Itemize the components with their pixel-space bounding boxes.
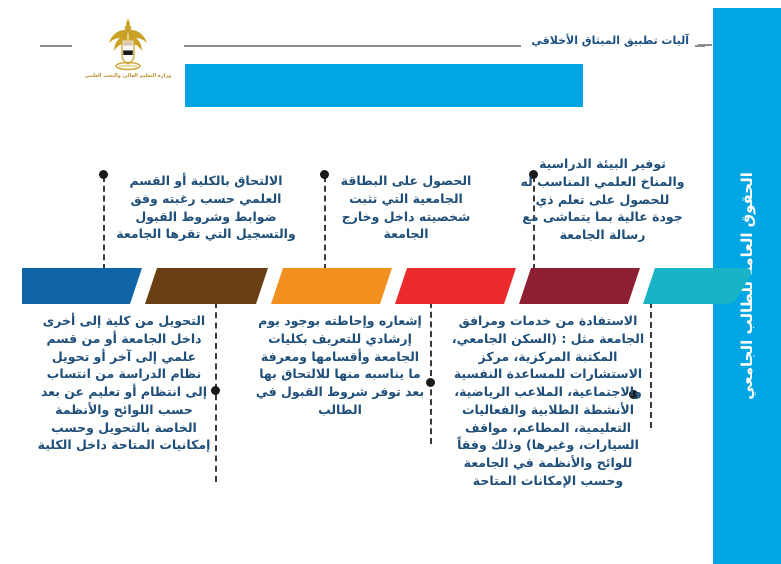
card-top-right-text: توفير البيئة الدراسية والمناخ العلمي الم… xyxy=(520,156,684,242)
card-bottom-left-text: التحويل من كلية إلى أخرى داخل الجامعة أو… xyxy=(38,313,211,452)
header-divider-dash xyxy=(698,44,712,46)
ministry-emblem-caption: وزارة التعليم العالي والبحث العلمي xyxy=(72,73,184,79)
connector-dot-top-left xyxy=(99,170,108,179)
card-top-right: توفير البيئة الدراسية والمناخ العلمي الم… xyxy=(520,155,685,244)
band-segment-teal[interactable] xyxy=(643,268,761,304)
band-segment-maroon[interactable] xyxy=(519,268,640,304)
card-bottom-middle: إشعاره وإحاطته بوجود يوم إرشادي للتعريف … xyxy=(255,312,425,419)
card-bottom-right: الاستفادة من خدمات ومرافق الجامعة مثل : … xyxy=(448,312,648,490)
card-bottom-left: التحويل من كلية إلى أخرى داخل الجامعة أو… xyxy=(36,312,212,454)
band-segment-shape-teal xyxy=(643,268,761,304)
card-bottom-right-text: الاستفادة من خدمات ومرافق الجامعة مثل : … xyxy=(452,313,644,488)
connector-line-top-middle xyxy=(324,176,326,270)
connector-dot-bottom-left xyxy=(211,386,220,395)
page-title: آليات تطبيق الميثاق الأخلاقي xyxy=(521,34,695,47)
connector-dot-top-middle xyxy=(320,170,329,179)
band-segment-shape-brown xyxy=(145,268,268,304)
connector-line-bottom-middle xyxy=(430,302,432,444)
title-banner-box xyxy=(185,64,583,107)
egypt-eagle-emblem-icon xyxy=(103,16,153,72)
card-top-middle-text: الحصول على البطاقة الجامعية التي تثبت شخ… xyxy=(341,173,472,241)
connector-line-top-left xyxy=(103,176,105,270)
card-bottom-middle-text: إشعاره وإحاطته بوجود يوم إرشادي للتعريف … xyxy=(256,313,424,417)
connector-line-bottom-right xyxy=(650,302,652,428)
band-segment-shape-maroon xyxy=(519,268,640,304)
process-band xyxy=(22,268,682,304)
band-segment-red[interactable] xyxy=(395,268,516,304)
connector-dot-bottom-middle xyxy=(426,378,435,387)
band-segment-shape-orange xyxy=(271,268,392,304)
card-top-left-text: الالتحاق بالكلية أو القسم العلمي حسب رغب… xyxy=(116,173,296,241)
band-segment-shape-blue xyxy=(22,268,142,304)
band-segment-brown[interactable] xyxy=(145,268,268,304)
card-top-middle: الحصول على البطاقة الجامعية التي تثبت شخ… xyxy=(330,172,482,243)
band-segment-blue[interactable] xyxy=(22,268,142,304)
band-segment-shape-red xyxy=(395,268,516,304)
band-segment-orange[interactable] xyxy=(271,268,392,304)
card-top-left: الالتحاق بالكلية أو القسم العلمي حسب رغب… xyxy=(110,172,302,243)
ministry-emblem: وزارة التعليم العالي والبحث العلمي xyxy=(72,16,184,88)
